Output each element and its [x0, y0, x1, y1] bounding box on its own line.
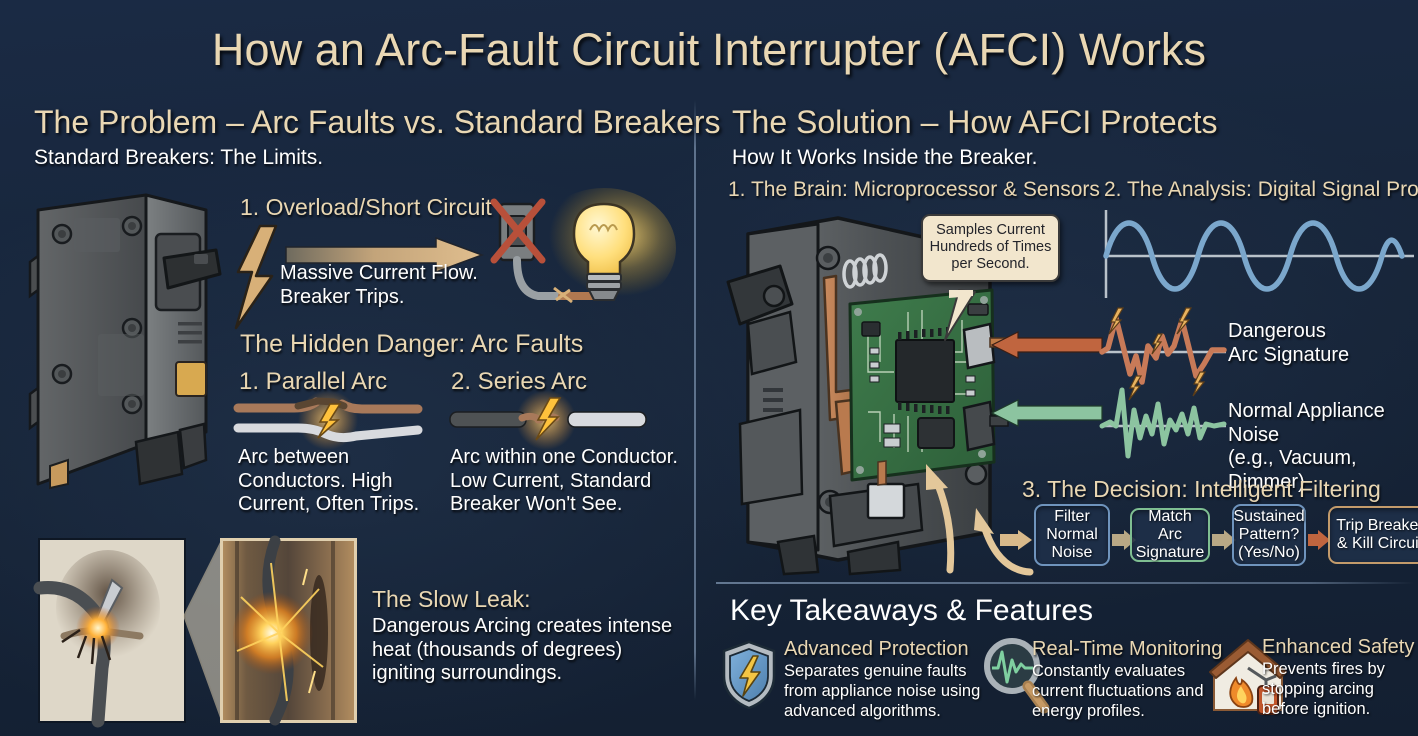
clean-sine-wave-icon — [1104, 206, 1416, 306]
parallel-arc-wires-icon — [238, 396, 418, 442]
step3-title: 3. The Decision: Intelligent Filtering — [1022, 476, 1381, 503]
flow-arrow-0 — [1000, 530, 1032, 542]
takeaway-2-title: Enhanced Safety — [1262, 636, 1418, 659]
series-arc-wire-icon — [450, 396, 646, 442]
column-divider — [694, 100, 696, 700]
right-column-subheading: How It Works Inside the Breaker. — [732, 146, 1037, 170]
step1-title: 1. The Brain: Microprocessor & Sensors — [728, 178, 1100, 202]
shield-bolt-icon — [722, 640, 776, 710]
takeaway-2-body: Prevents fires by stopping arcing before… — [1262, 660, 1418, 719]
overload-body: Massive Current Flow. Breaker Trips. — [280, 262, 510, 309]
series-arc-title: 2. Series Arc — [451, 368, 587, 396]
noise-signal-arrow — [990, 400, 1102, 428]
magnified-wall-cavity-arc-photo — [220, 538, 357, 723]
sampling-callout: Samples Current Hundreds of Times per Se… — [921, 214, 1060, 282]
flow-box-1-text: Match Arc Signature — [1136, 508, 1205, 562]
flow-box-match-arc-signature[interactable]: Match Arc Signature — [1130, 508, 1210, 562]
arc-signal-arrow — [990, 332, 1102, 360]
nail-through-cable-arcing-photo — [38, 538, 186, 723]
flow-box-0-text: Filter Normal Noise — [1046, 508, 1098, 562]
parallel-arc-body: Arc between Conductors. High Current, Of… — [238, 446, 438, 517]
takeaways-divider — [716, 582, 1414, 584]
standard-circuit-breaker-icon — [28, 192, 238, 492]
parallel-arc-title: 1. Parallel Arc — [239, 368, 387, 396]
flow-box-sustained-pattern[interactable]: Sustained Pattern? (Yes/No) — [1232, 504, 1306, 566]
right-column-heading: The Solution – How AFCI Protects — [732, 104, 1218, 141]
zoom-cone — [182, 538, 224, 723]
takeaways-heading: Key Takeaways & Features — [730, 594, 1093, 628]
sensor-pointer-arrows — [880, 430, 1040, 580]
takeaway-card-enhanced-safety: Enhanced Safety Prevents fires by stoppi… — [1262, 636, 1418, 719]
page-title: How an Arc-Fault Circuit Interrupter (AF… — [0, 24, 1418, 76]
overload-title: 1. Overload/Short Circuit — [240, 194, 492, 221]
lightning-bolt-icon — [232, 224, 282, 334]
slow-leak-text: The Slow Leak: Dangerous Arcing creates … — [372, 586, 672, 684]
flow-arrow-3 — [1308, 530, 1330, 542]
flow-box-filter-normal-noise[interactable]: Filter Normal Noise — [1034, 504, 1110, 566]
flow-box-2-text: Sustained Pattern? (Yes/No) — [1233, 508, 1304, 562]
infographic-root: How an Arc-Fault Circuit Interrupter (AF… — [0, 0, 1418, 736]
left-column-heading: The Problem – Arc Faults vs. Standard Br… — [34, 104, 721, 141]
light-bulb-icon — [486, 196, 676, 336]
flow-box-3-text: Trip Breaker & Kill Circuit — [1336, 517, 1418, 553]
flow-box-trip-breaker[interactable]: Trip Breaker & Kill Circuit — [1328, 506, 1418, 564]
dangerous-arc-label: Dangerous Arc Signature — [1228, 320, 1349, 367]
hidden-danger-title: The Hidden Danger: Arc Faults — [240, 330, 583, 359]
appliance-noise-waveform-icon — [1100, 386, 1226, 462]
slow-leak-body: Dangerous Arcing creates intense heat (t… — [372, 615, 672, 686]
slow-leak-title: The Slow Leak: — [372, 586, 672, 613]
series-arc-body: Arc within one Conductor. Low Current, S… — [450, 446, 680, 517]
left-column-subheading: Standard Breakers: The Limits. — [34, 146, 323, 170]
step2-title: 2. The Analysis: Digital Signal Processi… — [1104, 178, 1418, 202]
